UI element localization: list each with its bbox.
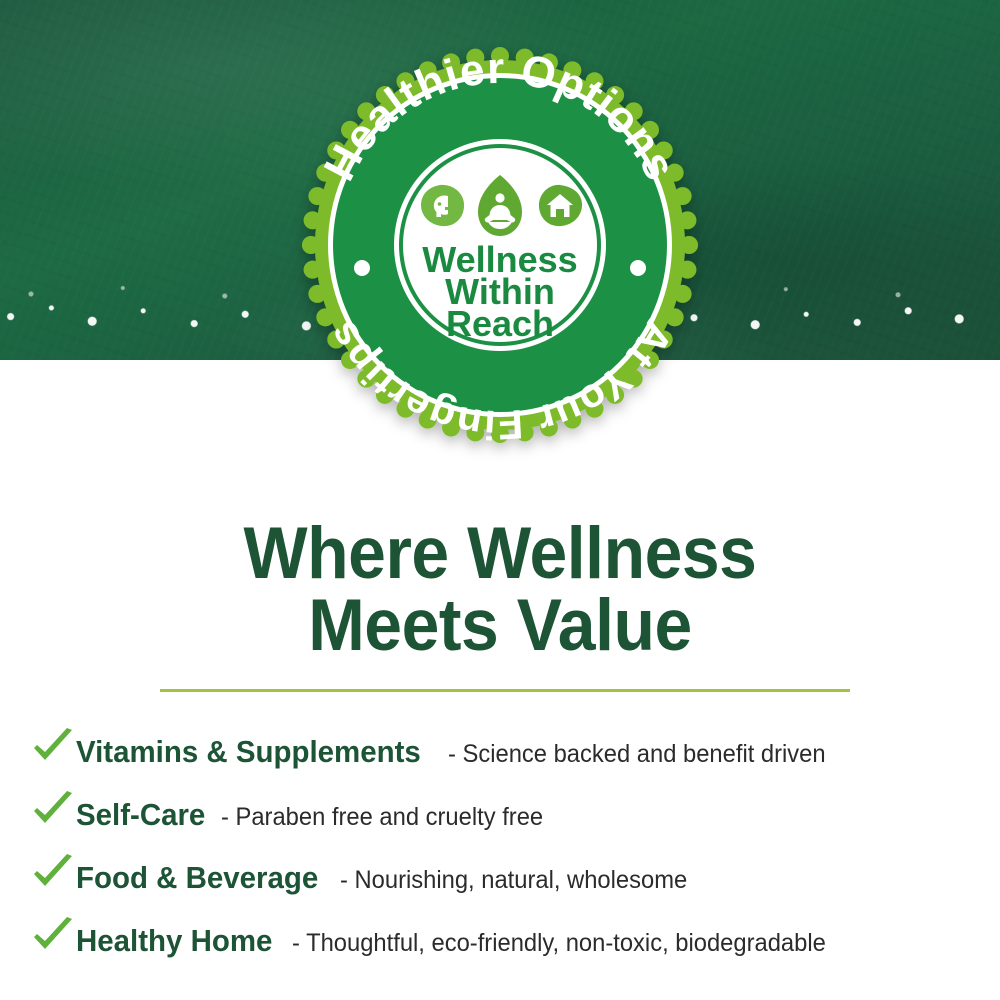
page-headline: Where Wellness Meets Value xyxy=(35,518,965,661)
list-item-label: Self-Care xyxy=(76,797,205,833)
list-item: Healthy Home - Thoughtful, eco-friendly,… xyxy=(30,911,980,974)
wellness-promo-poster: Healthier Options At Your Fingertips xyxy=(0,0,1000,1000)
list-item-label: Food & Beverage xyxy=(76,860,318,896)
list-item-description: - Science backed and benefit driven xyxy=(448,740,826,769)
list-item: Vitamins & Supplements - Science backed … xyxy=(30,722,980,785)
headline-line-1: Where Wellness xyxy=(35,518,965,590)
list-item-description: - Thoughtful, eco-friendly, non-toxic, b… xyxy=(292,929,826,958)
check-icon xyxy=(30,791,76,831)
check-icon xyxy=(30,917,76,957)
list-item: Food & Beverage - Nourishing, natural, w… xyxy=(30,848,980,911)
check-icon xyxy=(30,854,76,894)
list-item-label: Healthy Home xyxy=(76,923,272,959)
headline-line-2: Meets Value xyxy=(35,590,965,662)
list-item-label: Vitamins & Supplements xyxy=(76,734,421,770)
list-item-description: - Paraben free and cruelty free xyxy=(221,803,543,832)
headline-divider xyxy=(160,689,850,692)
badge-center-line-3: Reach xyxy=(446,303,554,344)
benefits-list: Vitamins & Supplements - Science backed … xyxy=(30,722,980,974)
list-item: Self-Care - Paraben free and cruelty fre… xyxy=(30,785,980,848)
badge-separator-dot-right xyxy=(630,260,646,276)
badge-separator-dot-left xyxy=(354,260,370,276)
list-item-description: - Nourishing, natural, wholesome xyxy=(340,866,687,895)
check-icon xyxy=(30,728,76,768)
wellness-within-reach-badge: Healthier Options At Your Fingertips xyxy=(297,76,703,414)
